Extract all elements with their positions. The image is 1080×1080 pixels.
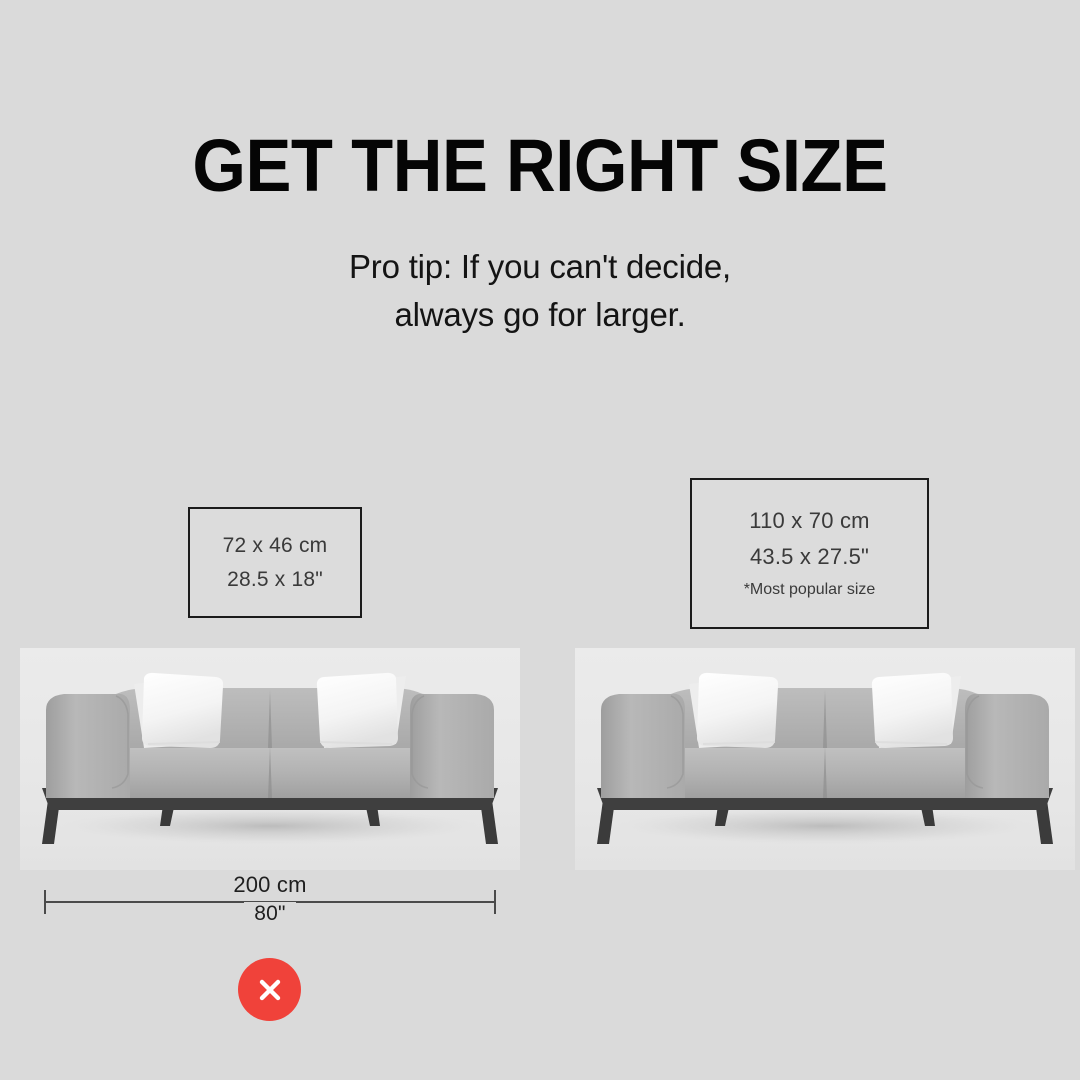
sofa-image-right [575,648,1075,870]
sofa-image-left [20,648,520,870]
option-recommended: 110 x 70 cm 43.5 x 27.5" *Most popular s… [540,0,1080,1080]
frame-size-metric: 110 x 70 cm [749,503,869,539]
cross-icon [255,975,285,1005]
sofa-illustration [20,648,520,870]
art-frame-large: 110 x 70 cm 43.5 x 27.5" *Most popular s… [690,478,929,629]
frame-size-imperial: 28.5 x 18" [227,563,323,597]
infographic-canvas: GET THE RIGHT SIZE Pro tip: If you can't… [0,0,1080,1080]
sofa-width-metric-wrap: 200 cm [44,872,496,898]
status-badge-reject [238,958,301,1021]
option-too-small: 72 x 46 cm 28.5 x 18" [0,0,540,1080]
art-frame-small: 72 x 46 cm 28.5 x 18" [188,507,362,618]
frame-popularity-note: *Most popular size [744,575,876,605]
frame-size-imperial: 43.5 x 27.5" [750,539,869,575]
frame-size-metric: 72 x 46 cm [223,529,328,563]
sofa-width-metric: 200 cm [223,872,316,897]
sofa-width-dimension-left: 200 cm 80" [44,872,496,932]
sofa-illustration [575,648,1075,870]
sofa-width-imperial: 80" [244,902,295,925]
sofa-width-imperial-wrap: 80" [44,902,496,926]
